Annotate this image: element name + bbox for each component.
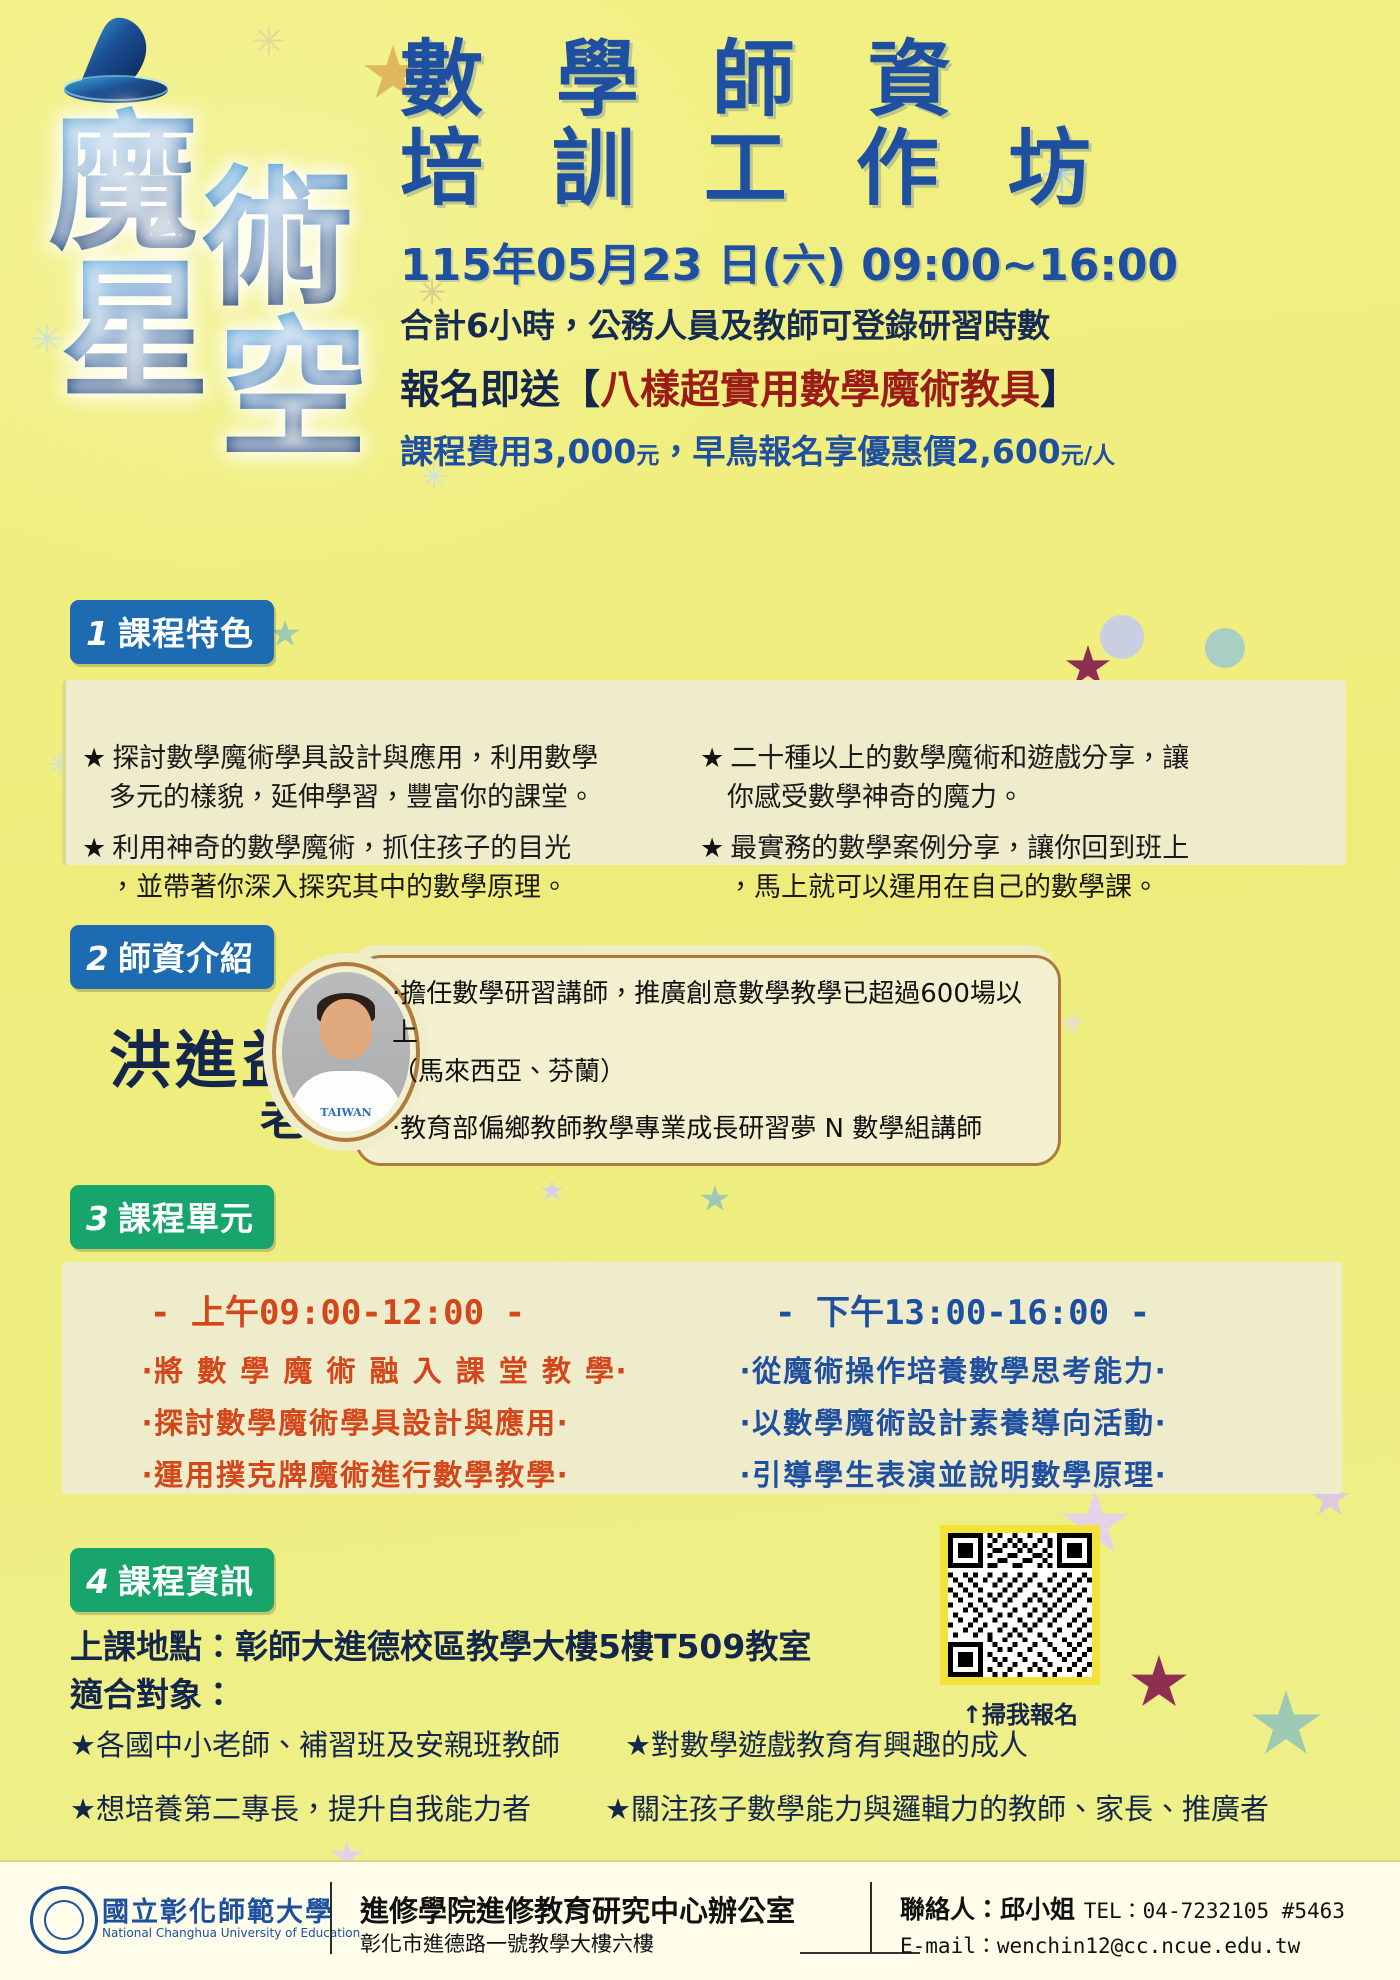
poster-root: ✳ ✳ ✳ ✳ ✳ ✳ ✳ ✳ ✳ ✳ 魔 術 星 — [0, 0, 1400, 1980]
star-bullet-icon: ★ — [82, 833, 106, 864]
page-title-line1: 數 學 師 資 — [400, 38, 1080, 123]
qr-caption: ↑掃我報名 — [930, 1695, 1110, 1730]
divider — [330, 1882, 332, 1954]
office-name: 進修學院進修教育研究中心辦公室 — [360, 1888, 795, 1930]
morning-session-header: - 上午09:00-12:00 - — [150, 1285, 525, 1334]
section-number-1: 1 — [86, 614, 110, 653]
avatar-photo: TAIWAN — [282, 972, 410, 1132]
page-title-line2: 培 訓 工 作 坊 — [400, 127, 1080, 212]
morning-unit: ‧將 數 學 魔 術 融 入 課 堂 教 學‧ — [142, 1348, 628, 1390]
section-number-3: 3 — [86, 1199, 110, 1238]
section-label-3: 課程單元 — [118, 1199, 254, 1238]
contact-tel: TEL：04-7232105 #5463 — [1084, 1899, 1345, 1923]
logo-char-3: 星 — [60, 210, 210, 427]
star-bullet-icon: ★ — [82, 743, 106, 774]
price-regular-unit: 元 — [636, 443, 659, 469]
university-seal-icon — [30, 1886, 98, 1954]
star-icon — [700, 1185, 730, 1213]
venue-line: 上課地點：彰師大進德校區教學大樓5樓T509教室 — [70, 1620, 811, 1668]
event-date: 115年05月23 日(六) 09:00~16:00 — [400, 229, 1080, 293]
star-icon — [1130, 1655, 1188, 1711]
afternoon-unit: ‧從魔術操作培養數學思考能力‧ — [740, 1348, 1167, 1390]
afternoon-session-header: - 下午13:00-16:00 - — [775, 1285, 1150, 1334]
gift-prefix: 報名即送【 — [400, 367, 600, 413]
bio-line: （馬來西亞、芬蘭） — [392, 1053, 1042, 1092]
header-block: 數 學 師 資 培 訓 工 作 坊 115年05月23 日(六) 09:00~1… — [400, 38, 1080, 473]
afternoon-unit: ‧以數學魔術設計素養導向活動‧ — [740, 1400, 1167, 1442]
qr-code-matrix — [948, 1533, 1092, 1677]
bio-line: ‧教育部偏鄉教師教學專業成長研習夢 N 數學組講師 — [392, 1110, 1042, 1149]
contact-person: 聯絡人：邱小姐 TEL：04-7232105 #5463 — [900, 1890, 1345, 1926]
contact-label: 聯絡人：邱小姐 — [900, 1895, 1075, 1924]
feature-text: 利用神奇的數學魔術，抓住孩子的目光 ，並帶著你深入探究其中的數學原理。 — [82, 833, 571, 903]
price-early-unit: 元/人 — [1061, 443, 1115, 469]
avatar-head — [320, 999, 372, 1059]
logo-char-4: 空 — [218, 268, 368, 485]
teacher-bio: ‧擔任數學研習講師，推廣創意數學教學已超過600場以上 （馬來西亞、芬蘭） ‧教… — [392, 975, 1042, 1149]
section-tab-4: 4課程資訊 — [70, 1548, 274, 1612]
audience-item: ★想培養第二專長，提升自我能力者 — [70, 1786, 531, 1828]
price-regular: 課程費用3,000 — [400, 432, 636, 471]
qr-code-icon[interactable] — [940, 1525, 1100, 1685]
avatar-shirt — [290, 1071, 402, 1132]
star-icon — [1250, 1690, 1322, 1760]
star-bullet-icon: ★ — [700, 833, 724, 864]
section-tab-3: 3課程單元 — [70, 1185, 274, 1249]
price-line: 課程費用3,000元，早鳥報名享優惠價2,600元/人 — [400, 425, 1080, 473]
feature-item: ★最實務的數學案例分享，讓你回到班上 ，馬上就可以運用在自己的數學課。 — [700, 790, 1320, 907]
star-icon — [540, 1180, 564, 1202]
university-name-zh: 國立彰化師範大學 — [102, 1890, 334, 1929]
sphere-decor-icon — [1205, 628, 1245, 668]
divider — [870, 1882, 872, 1954]
avatar-shirt-text: TAIWAN — [320, 1106, 372, 1119]
gift-highlight: 八樣超實用數學魔術教具 — [600, 367, 1040, 413]
sparkle-icon: ✳ — [1060, 1010, 1085, 1040]
contact-email: E-mail：wenchin12@cc.ncue.edu.tw — [900, 1930, 1300, 1960]
audience-item: ★各國中小老師、補習班及安親班教師 — [70, 1722, 560, 1764]
section-label-4: 課程資訊 — [118, 1562, 254, 1601]
star-icon — [270, 620, 300, 648]
star-bullet-icon: ★ — [700, 743, 724, 774]
magic-logo: 魔 術 星 空 — [18, 10, 408, 480]
section-number-4: 4 — [86, 1562, 110, 1601]
section-tab-1: 1課程特色 — [70, 600, 274, 664]
bio-line: ‧擔任數學研習講師，推廣創意數學教學已超過600場以上 — [392, 975, 1042, 1053]
morning-unit: ‧運用撲克牌魔術進行數學教學‧ — [142, 1452, 569, 1494]
audience-item: ★關注孩子數學能力與邏輯力的教師、家長、推廣者 — [605, 1786, 1269, 1828]
section-label-1: 課程特色 — [118, 614, 254, 653]
gift-line: 報名即送【八樣超實用數學魔術教具】 — [400, 357, 1080, 415]
section-label-2: 師資介紹 — [118, 939, 254, 978]
gift-suffix: 】 — [1040, 367, 1080, 413]
price-early: ，早鳥報名享優惠價2,600 — [659, 432, 1060, 471]
section-tab-2: 2師資介紹 — [70, 925, 274, 989]
audience-label: 適合對象： — [70, 1668, 235, 1716]
university-name-en: National Changhua University of Educatio… — [102, 1926, 360, 1940]
footer: 國立彰化師範大學 National Changhua University of… — [0, 1860, 1400, 1980]
event-hours-note: 合計6小時，公務人員及教師可登錄研習時數 — [400, 299, 1080, 347]
feature-item: ★利用神奇的數學魔術，抓住孩子的目光 ，並帶著你深入探究其中的數學原理。 — [82, 790, 662, 907]
morning-unit: ‧探討數學魔術學具設計與應用‧ — [142, 1400, 569, 1442]
feature-text: 最實務的數學案例分享，讓你回到班上 ，馬上就可以運用在自己的數學課。 — [700, 833, 1189, 903]
sphere-decor-icon — [1100, 615, 1144, 659]
office-address: 彰化市進德路一號教學大樓六樓 — [360, 1928, 654, 1958]
afternoon-unit: ‧引導學生表演並說明數學原理‧ — [740, 1452, 1167, 1494]
section-number-2: 2 — [86, 939, 110, 978]
